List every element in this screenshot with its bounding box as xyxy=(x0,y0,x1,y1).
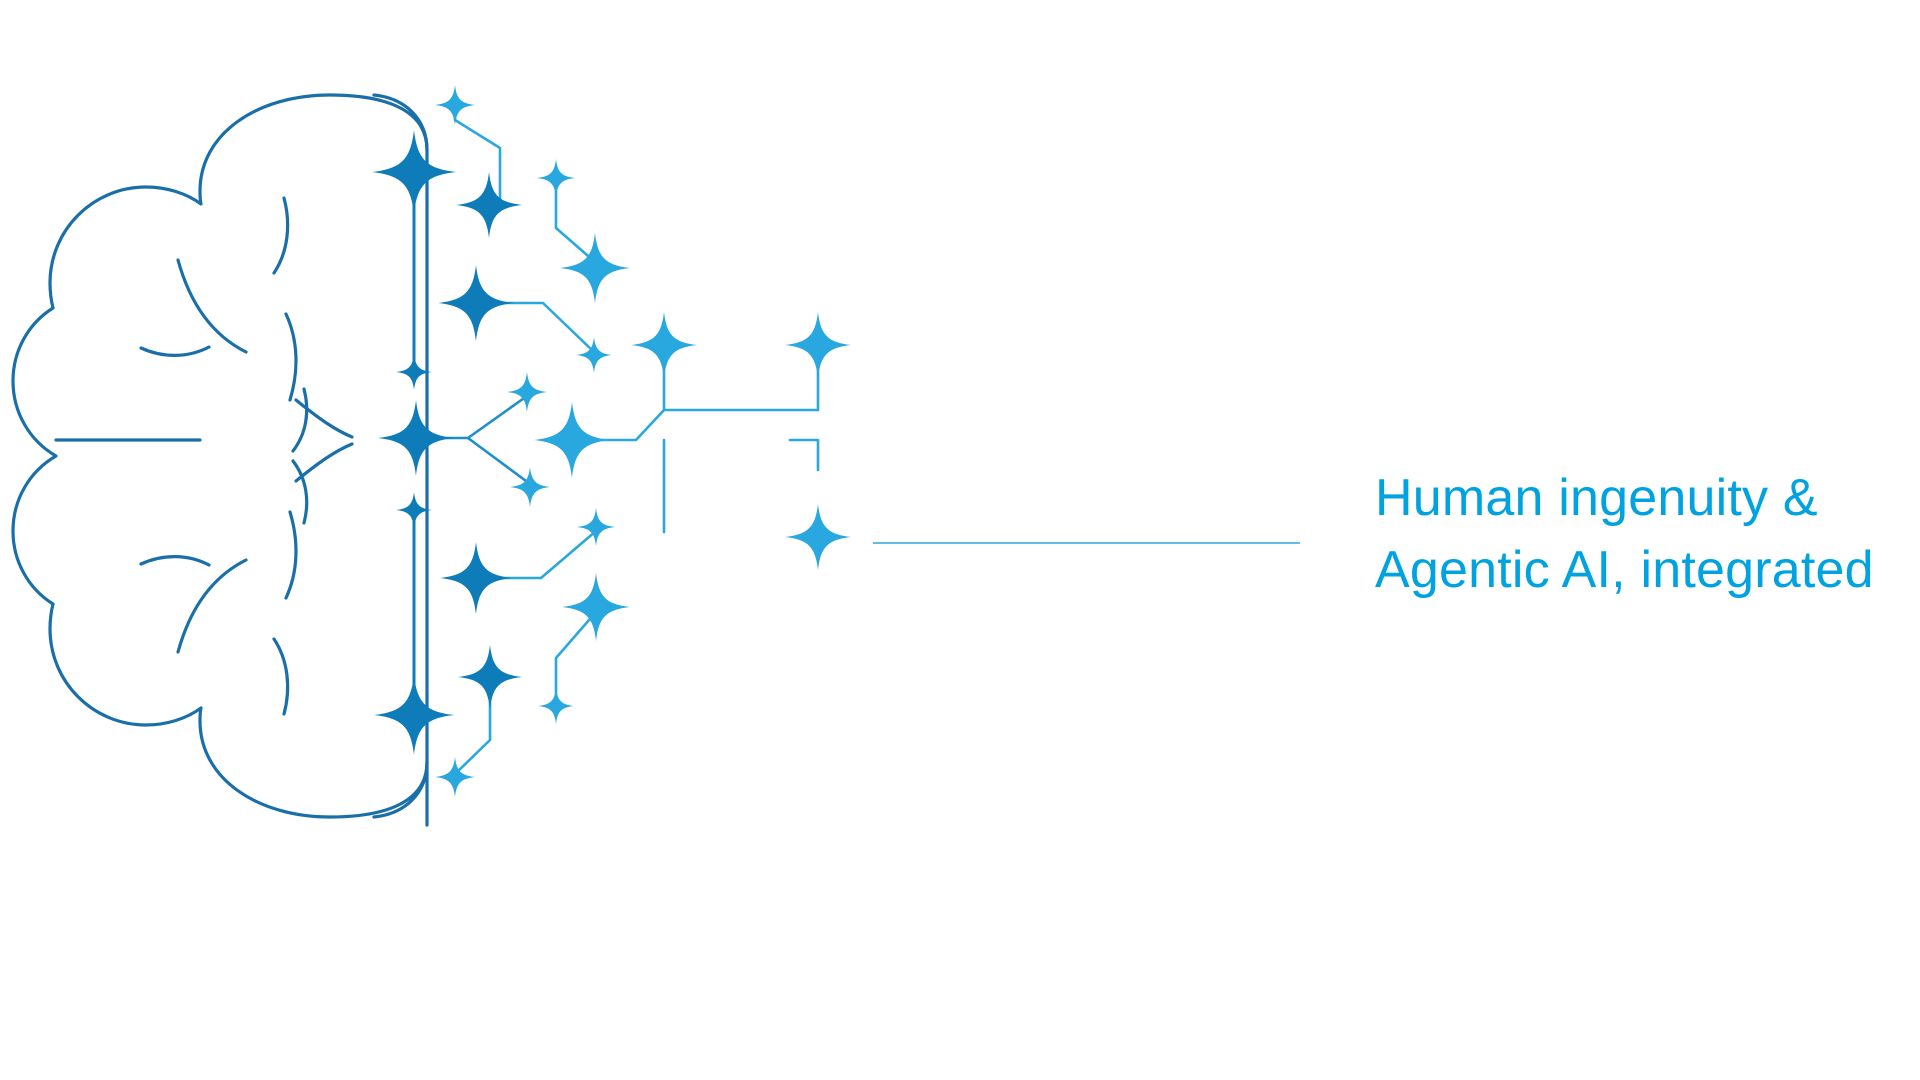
brain-fold-lower-inner-2 xyxy=(141,557,209,565)
brain-fold-upper-inner-1 xyxy=(178,260,246,352)
star-08 xyxy=(631,312,697,378)
connector-09 xyxy=(664,352,818,410)
headline-line-2: Agentic AI, integrated xyxy=(1375,534,1895,606)
star-21 xyxy=(538,688,574,724)
hero-illustration-stage: Human ingenuity & Agentic AI, integrated xyxy=(0,0,1920,1080)
star-19 xyxy=(458,645,522,709)
connector-12 xyxy=(476,531,596,578)
connector-07 xyxy=(572,352,664,440)
brain-fold-lower-inner-1 xyxy=(178,560,246,652)
star-22 xyxy=(435,757,475,797)
brain-fold-midline-notch-lower xyxy=(296,444,352,481)
brain-fold-upper-inner-3 xyxy=(286,314,296,400)
star-02 xyxy=(372,130,456,214)
star-03 xyxy=(456,172,522,238)
page-title: Human ingenuity & Agentic AI, integrated xyxy=(1375,462,1895,606)
brain-group xyxy=(13,95,427,825)
star-04 xyxy=(537,159,575,197)
brain-fold-upper-right-hook xyxy=(274,198,288,273)
connector-05 xyxy=(416,396,527,438)
star-18 xyxy=(562,573,630,641)
star-24 xyxy=(785,504,851,570)
connector-14 xyxy=(556,612,596,710)
brain-spine-cap-bottom xyxy=(374,762,427,817)
brain-spine-cap-top xyxy=(374,95,427,150)
connector-13 xyxy=(455,684,490,774)
brain-fold-upper-inner-2 xyxy=(141,347,209,355)
brain-fold-upper-right-curve xyxy=(293,389,307,451)
star-01 xyxy=(435,85,475,125)
star-17 xyxy=(440,542,512,614)
brain-outer-silhouette xyxy=(13,95,427,817)
star-07 xyxy=(576,337,612,373)
star-05 xyxy=(560,233,630,303)
connector-06 xyxy=(468,438,530,484)
connector-15 xyxy=(790,440,818,470)
star-16 xyxy=(577,508,615,546)
star-11 xyxy=(378,400,454,476)
star-06 xyxy=(438,265,514,341)
connector-04 xyxy=(476,303,594,352)
connector-03 xyxy=(556,186,595,262)
star-20 xyxy=(374,675,454,755)
star-12 xyxy=(534,402,610,478)
headline-line-1: Human ingenuity & xyxy=(1375,462,1895,534)
brain-fold-lower-right-hook xyxy=(274,639,288,714)
brain-fold-lower-inner-3 xyxy=(286,512,296,598)
star-23 xyxy=(785,312,851,378)
brain-fold-lower-right-curve xyxy=(293,461,307,523)
